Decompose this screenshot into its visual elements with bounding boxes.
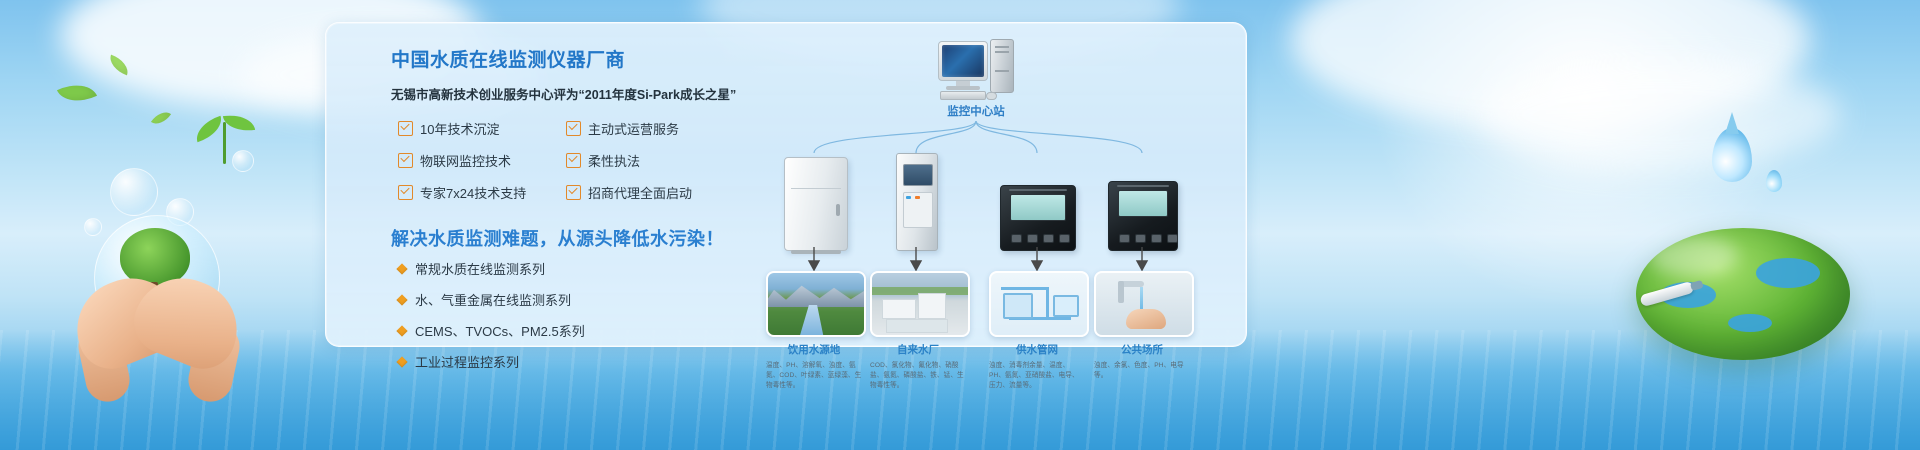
list-item: CEMS、TVOCs、PM2.5系列	[398, 321, 698, 340]
device-tall-cabinet-icon	[896, 153, 938, 251]
checkbox-checked-icon	[566, 185, 581, 200]
diamond-bullet-icon	[396, 356, 407, 367]
thumbnail-pipe-network	[989, 271, 1089, 337]
checklist-label: 主动式运营服务	[588, 119, 679, 138]
card-caption: 自来水厂	[870, 342, 966, 357]
checklist-label: 专家7x24技术支持	[420, 183, 526, 202]
checkbox-checked-icon	[566, 153, 581, 168]
checklist-item: 专家7x24技术支持	[398, 183, 566, 202]
diamond-bullet-icon	[396, 325, 407, 336]
checklist-item: 柔性执法	[566, 151, 726, 170]
card-description: 温度、PH、溶解氧、浊度、氨氮、COD、叶绿素、蓝绿藻、生物毒性等。	[766, 361, 862, 392]
branch-connector-lines	[756, 121, 1226, 155]
checklist-label: 招商代理全面启动	[588, 183, 692, 202]
list-item-label: 常规水质在线监测系列	[415, 259, 545, 278]
checklist-item: 物联网监控技术	[398, 151, 566, 170]
page-subtitle: 无锡市高新技术创业服务中心评为“2011年度Si-Park成长之星”	[391, 84, 731, 103]
down-arrow-icons	[756, 247, 1226, 273]
application-card[interactable]: 供水管网 浊度、消毒剂余量、温度、PH、氨氮、亚硝酸盐、电导、压力、流量等。	[989, 271, 1085, 392]
feature-checklist: 10年技术沉淀 主动式运营服务 物联网监控技术 柔性执法 专家7x24技术支持 …	[398, 119, 718, 202]
bubble	[84, 218, 102, 236]
card-description: 浊度、余氯、色度、PH、电导等。	[1094, 361, 1190, 381]
card-caption: 供水管网	[989, 342, 1085, 357]
section-title-solution: 解决水质监测难题，从源头降低水污染！	[391, 225, 724, 251]
headline-block: 中国水质在线监测仪器厂商 无锡市高新技术创业服务中心评为“2011年度Si-Pa…	[391, 45, 731, 103]
system-topology-diagram: 监控中心站	[756, 33, 1226, 338]
water-drop-icon	[1766, 170, 1782, 192]
card-caption: 公共场所	[1094, 342, 1190, 357]
center-station-label: 监控中心站	[906, 103, 1046, 119]
list-item-label: 水、气重金属在线监测系列	[415, 290, 571, 309]
list-item: 水、气重金属在线监测系列	[398, 290, 698, 309]
checklist-item: 主动式运营服务	[566, 119, 726, 138]
checklist-label: 物联网监控技术	[420, 151, 511, 170]
checkbox-checked-icon	[398, 121, 413, 136]
thumbnail-drinking-water-source	[766, 271, 866, 337]
list-item-label: CEMS、TVOCs、PM2.5系列	[415, 321, 585, 340]
checklist-label: 柔性执法	[588, 151, 640, 170]
card-caption: 饮用水源地	[766, 342, 862, 357]
checkbox-checked-icon	[398, 153, 413, 168]
diamond-bullet-icon	[396, 263, 407, 274]
cloud	[1480, 60, 1840, 170]
product-series-list: 常规水质在线监测系列 水、气重金属在线监测系列 CEMS、TVOCs、PM2.5…	[398, 259, 698, 383]
card-description: 浊度、消毒剂余量、温度、PH、氨氮、亚硝酸盐、电导、压力、流量等。	[989, 361, 1085, 392]
diamond-bullet-icon	[396, 294, 407, 305]
bubble	[232, 150, 254, 172]
hands-illustration	[74, 262, 246, 380]
thumbnail-public-place	[1094, 271, 1194, 337]
device-controller-icon	[1000, 185, 1076, 251]
application-card[interactable]: 公共场所 浊度、余氯、色度、PH、电导等。	[1094, 271, 1190, 381]
monitoring-center-computer-icon	[938, 41, 1014, 99]
checklist-label: 10年技术沉淀	[420, 119, 499, 138]
card-description: COD、氯化物、氟化物、硝酸盐、氨氮、磷酸盐、铁、锰、生物毒性等。	[870, 361, 966, 392]
device-controller-icon	[1108, 181, 1178, 251]
device-water-cabinet-icon	[784, 157, 848, 251]
list-item: 工业过程监控系列	[398, 352, 698, 371]
application-card[interactable]: 饮用水源地 温度、PH、溶解氧、浊度、氨氮、COD、叶绿素、蓝绿藻、生物毒性等。	[766, 271, 862, 392]
list-item-label: 工业过程监控系列	[415, 352, 519, 371]
checkbox-checked-icon	[398, 185, 413, 200]
bubble	[110, 168, 158, 216]
checklist-item: 招商代理全面启动	[566, 183, 726, 202]
page-title: 中国水质在线监测仪器厂商	[391, 45, 731, 72]
thumbnail-water-plant	[870, 271, 970, 337]
content-panel: 中国水质在线监测仪器厂商 无锡市高新技术创业服务中心评为“2011年度Si-Pa…	[325, 22, 1247, 347]
checkbox-checked-icon	[566, 121, 581, 136]
application-card[interactable]: 自来水厂 COD、氯化物、氟化物、硝酸盐、氨氮、磷酸盐、铁、锰、生物毒性等。	[870, 271, 966, 392]
checklist-item: 10年技术沉淀	[398, 119, 566, 138]
list-item: 常规水质在线监测系列	[398, 259, 698, 278]
device-row	[756, 151, 1226, 251]
